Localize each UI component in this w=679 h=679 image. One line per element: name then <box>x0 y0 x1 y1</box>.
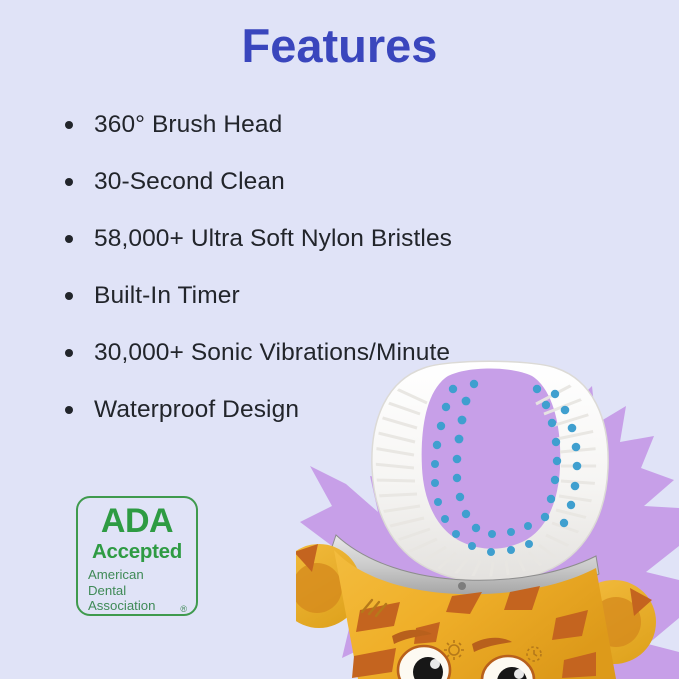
ada-org-line-1: American <box>86 567 188 582</box>
bullet-icon <box>65 235 73 243</box>
ada-organization-name: American Dental Association ® <box>86 567 188 613</box>
feature-label: 30-Second Clean <box>94 168 285 196</box>
bullet-icon <box>65 292 73 300</box>
bullet-icon <box>65 406 73 414</box>
ada-org-line-2: Dental <box>86 583 188 598</box>
bullet-icon <box>65 349 73 357</box>
ada-org-line-3: Association <box>86 598 188 613</box>
feature-label: 360° Brush Head <box>94 111 282 139</box>
feature-list-item: 30,000+ Sonic Vibrations/Minute <box>62 324 642 381</box>
bullet-icon <box>65 178 73 186</box>
feature-label: 30,000+ Sonic Vibrations/Minute <box>94 339 450 367</box>
feature-label: Waterproof Design <box>94 396 299 424</box>
collar-screw <box>458 582 466 590</box>
feature-label: Built-In Timer <box>94 282 240 310</box>
feature-list-item: Waterproof Design <box>62 381 642 438</box>
feature-list-item: 30-Second Clean <box>62 153 642 210</box>
infographic-canvas: Features <box>0 0 679 679</box>
ada-accepted-label: Accepted <box>92 541 182 564</box>
feature-label: 58,000+ Ultra Soft Nylon Bristles <box>94 225 452 253</box>
bullet-icon <box>65 121 73 129</box>
feature-list: 360° Brush Head 30-Second Clean 58,000+ … <box>62 96 642 438</box>
ada-acronym: ADA <box>101 504 173 539</box>
feature-list-item: 360° Brush Head <box>62 96 642 153</box>
feature-list-item: 58,000+ Ultra Soft Nylon Bristles <box>62 210 642 267</box>
ada-accepted-seal: ADA Accepted American Dental Association… <box>76 496 198 616</box>
page-title: Features <box>0 20 679 72</box>
registered-trademark-icon: ® <box>180 604 187 614</box>
feature-list-item: Built-In Timer <box>62 267 642 324</box>
